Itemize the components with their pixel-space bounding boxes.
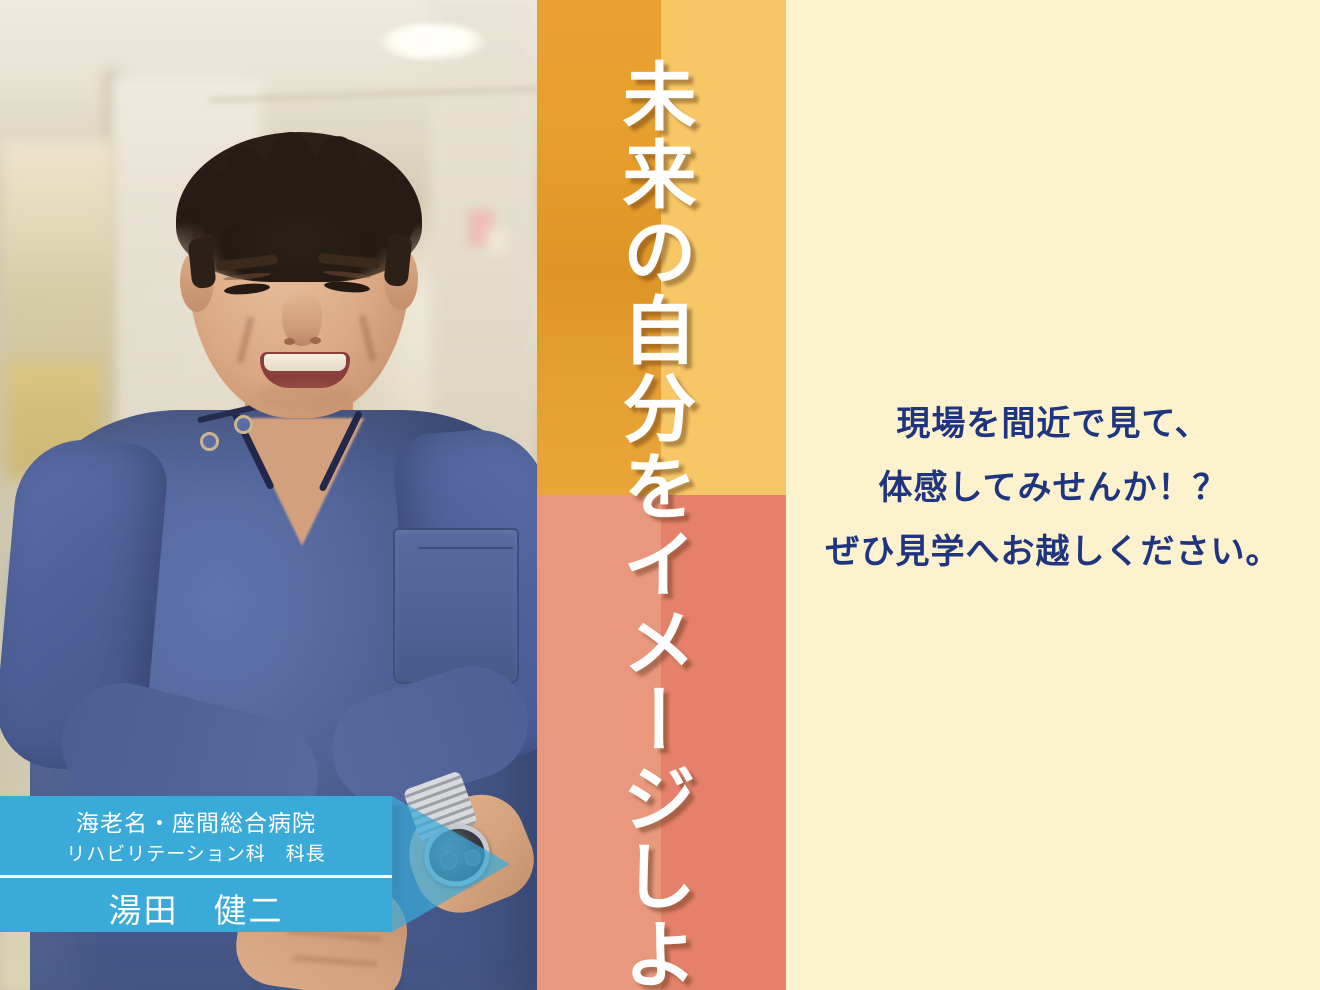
- left-nostril: [284, 338, 295, 345]
- poster-root: 未来の自分をイメージしよう！ 現場を間近で見て、 体感してみせんか！？ ぜひ見学…: [0, 0, 1320, 990]
- shoulder-snap-1: [200, 432, 219, 451]
- left-sideburn: [187, 237, 216, 289]
- message-panel: 現場を間近で見て、 体感してみせんか！？ ぜひ見学へお越しください。: [786, 0, 1320, 990]
- message-text-block: 現場を間近で見て、 体感してみせんか！？ ぜひ見学へお越しください。: [786, 392, 1320, 584]
- name-banner: 海老名・座間総合病院 リハビリテーション科 科長 湯田 健二: [0, 796, 537, 932]
- banner-divider: [0, 875, 392, 878]
- chest-pocket: [393, 528, 519, 684]
- banner-role: リハビリテーション科 科長: [0, 839, 392, 866]
- teeth: [264, 354, 346, 371]
- chest-pocket-flap: [418, 525, 514, 549]
- message-line-2: 体感してみせんか！？: [786, 456, 1320, 520]
- message-line-3: ぜひ見学へお越しください。: [786, 520, 1320, 584]
- message-line-1: 現場を間近で見て、: [786, 392, 1320, 456]
- banner-person-name: 湯田 健二: [0, 884, 392, 932]
- right-nostril: [310, 337, 321, 344]
- chin-shadow: [258, 382, 352, 410]
- vertical-headline: 未来の自分をイメージしよう！: [611, 58, 695, 958]
- banner-organization: 海老名・座間総合病院: [0, 804, 392, 838]
- v-neck-opening: [240, 418, 360, 546]
- shoulder-snap-2: [234, 415, 253, 434]
